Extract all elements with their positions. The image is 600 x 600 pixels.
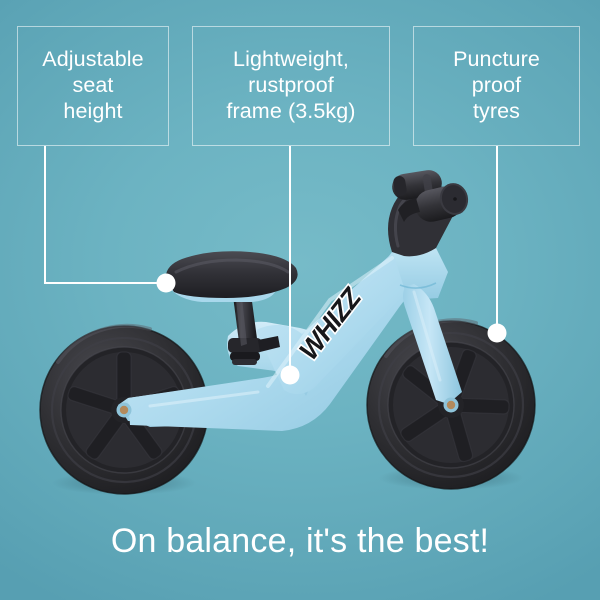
callout-line: tyres [453,98,540,124]
leader-line-1 [45,146,160,283]
leader-dot-1 [157,274,176,293]
leader-dot-2 [281,366,300,385]
callout-label: Puncture proof tyres [453,46,540,125]
callout-line: Lightweight, [226,46,355,72]
callout-line: frame (3.5kg) [226,98,355,124]
callout-label: Adjustable seat height [42,46,143,125]
callout-line: seat [42,72,143,98]
leader-dot-3 [488,324,507,343]
callout-line: Adjustable [42,46,143,72]
product-feature-graphic: WHIZZ [0,0,600,600]
callout-label: Lightweight, rustproof frame (3.5kg) [226,46,355,125]
callout-box-lightweight-rustproof-frame[interactable]: Lightweight, rustproof frame (3.5kg) [192,26,390,146]
tagline: On balance, it's the best! [0,524,600,558]
callout-box-puncture-proof-tyres[interactable]: Puncture proof tyres [413,26,580,146]
callout-box-adjustable-seat-height[interactable]: Adjustable seat height [17,26,169,146]
callout-line: height [42,98,143,124]
callout-line: proof [453,72,540,98]
callout-line: rustproof [226,72,355,98]
callout-line: Puncture [453,46,540,72]
